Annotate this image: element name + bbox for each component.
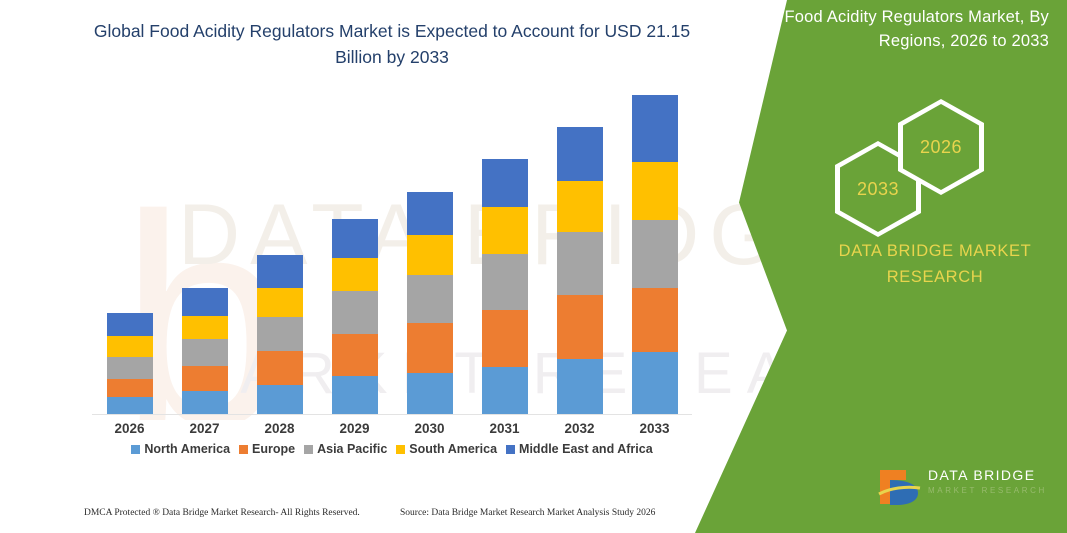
x-axis-label-2029: 2029	[325, 421, 385, 436]
bar-segment	[557, 295, 603, 359]
x-axis-label-2031: 2031	[475, 421, 535, 436]
bar-segment	[632, 352, 678, 414]
bar-segment	[482, 310, 528, 367]
bar-segment	[257, 288, 303, 317]
x-axis-label-2032: 2032	[550, 421, 610, 436]
x-axis-label-2026: 2026	[100, 421, 160, 436]
legend-label: North America	[144, 442, 230, 456]
bar-segment	[482, 254, 528, 310]
bar-segment	[632, 95, 678, 162]
legend-item[interactable]: Asia Pacific	[304, 442, 387, 456]
bar-2027	[182, 288, 228, 414]
chart-legend: North AmericaEuropeAsia PacificSouth Ame…	[92, 442, 692, 456]
axis-baseline	[92, 414, 692, 415]
bar-segment	[332, 376, 378, 414]
bar-segment	[557, 359, 603, 414]
bar-segment	[332, 219, 378, 258]
bar-2026	[107, 313, 153, 414]
bar-segment	[632, 162, 678, 220]
bar-segment	[182, 391, 228, 414]
bar-segment	[182, 366, 228, 391]
chart-title: Global Food Acidity Regulators Market is…	[92, 18, 692, 71]
bar-segment	[257, 317, 303, 351]
bar-segment	[407, 235, 453, 275]
bar-segment	[557, 181, 603, 232]
bar-chart-plot	[92, 90, 692, 415]
legend-item[interactable]: North America	[131, 442, 230, 456]
x-axis-label-2033: 2033	[625, 421, 685, 436]
legend-swatch-icon	[506, 445, 515, 454]
footer-copyright: DMCA Protected ® Data Bridge Market Rese…	[84, 508, 360, 518]
bar-segment	[407, 323, 453, 373]
bar-segment	[257, 351, 303, 385]
bar-segment	[182, 288, 228, 316]
bar-segment	[257, 385, 303, 414]
panel-brand-name: DATA BRIDGE MARKET RESEARCH	[820, 238, 1050, 291]
bar-segment	[182, 316, 228, 339]
x-axis-labels: 20262027202820292030203120322033	[92, 421, 692, 441]
bar-segment	[557, 127, 603, 182]
panel-brand-line-2: RESEARCH	[820, 264, 1050, 290]
panel-heading: Global Food Acidity Regulators Market, B…	[719, 6, 1049, 54]
bar-segment	[557, 232, 603, 295]
legend-label: Middle East and Africa	[519, 442, 653, 456]
footer: DMCA Protected ® Data Bridge Market Rese…	[0, 508, 700, 530]
bar-segment	[482, 207, 528, 254]
bar-segment	[332, 334, 378, 376]
legend-swatch-icon	[239, 445, 248, 454]
data-bridge-logo: DATA BRIDGE MARKET RESEARCH	[876, 462, 1061, 510]
bar-segment	[257, 255, 303, 288]
bar-segment	[182, 339, 228, 366]
legend-label: South America	[409, 442, 497, 456]
data-bridge-logo-mark	[876, 464, 922, 508]
hexagon-badge-end-year-label: 2026	[903, 104, 979, 190]
bar-segment	[107, 379, 153, 397]
bar-segment	[407, 373, 453, 414]
x-axis-label-2027: 2027	[175, 421, 235, 436]
legend-item[interactable]: Europe	[239, 442, 295, 456]
legend-swatch-icon	[131, 445, 140, 454]
panel-brand-line-1: DATA BRIDGE MARKET	[820, 238, 1050, 264]
bar-2031	[482, 159, 528, 414]
footer-source: Source: Data Bridge Market Research Mark…	[400, 508, 655, 518]
bar-segment	[332, 258, 378, 291]
x-axis-label-2028: 2028	[250, 421, 310, 436]
bar-segment	[632, 288, 678, 352]
bar-2028	[257, 255, 303, 414]
bar-segment	[482, 159, 528, 206]
bar-segment	[407, 192, 453, 234]
bar-segment	[482, 367, 528, 414]
bar-segment	[107, 336, 153, 357]
bar-segment	[332, 291, 378, 335]
legend-label: Asia Pacific	[317, 442, 387, 456]
bar-2030	[407, 192, 453, 414]
bar-2033	[632, 95, 678, 414]
bar-2029	[332, 219, 378, 414]
bar-segment	[632, 220, 678, 288]
bar-segment	[107, 397, 153, 414]
bar-2032	[557, 127, 603, 414]
x-axis-label-2030: 2030	[400, 421, 460, 436]
legend-label: Europe	[252, 442, 295, 456]
legend-swatch-icon	[304, 445, 313, 454]
bar-segment	[107, 357, 153, 379]
data-bridge-logo-text: DATA BRIDGE	[928, 467, 1035, 483]
legend-swatch-icon	[396, 445, 405, 454]
bar-segment	[107, 313, 153, 336]
bar-segment	[407, 275, 453, 324]
data-bridge-logo-subtext: MARKET RESEARCH	[928, 486, 1047, 495]
legend-item[interactable]: South America	[396, 442, 497, 456]
legend-item[interactable]: Middle East and Africa	[506, 442, 653, 456]
